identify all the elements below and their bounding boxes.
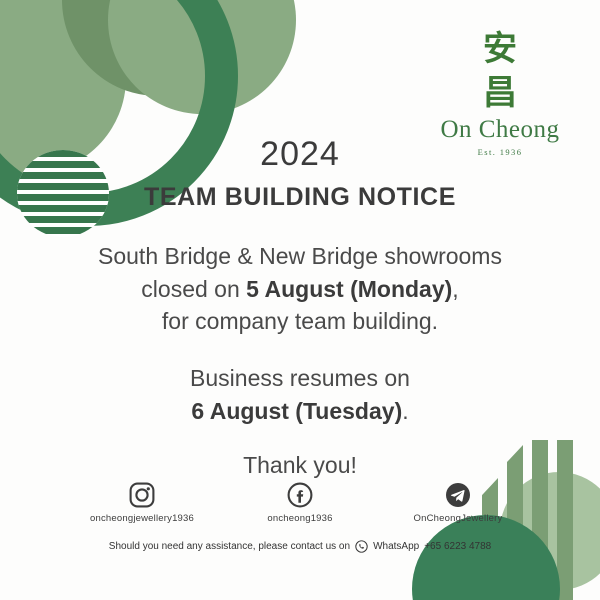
social-links-row: oncheongjewellery1936 oncheong1936 OnChe… (0, 482, 600, 524)
contact-line: Should you need any assistance, please c… (0, 540, 600, 553)
social-item-instagram[interactable]: oncheongjewellery1936 (82, 482, 202, 524)
headline-block: 2024 TEAM BUILDING NOTICE (0, 136, 600, 212)
copy-line-2-prefix: closed on (141, 276, 246, 302)
svg-text:安: 安 (483, 29, 517, 69)
chinese-seal-icon: 安 昌 (468, 24, 532, 112)
contact-prefix-text: Should you need any assistance, please c… (109, 541, 350, 552)
facebook-icon[interactable] (287, 482, 313, 508)
copy-line-2-suffix: , (452, 276, 458, 302)
copy-line-1: South Bridge & New Bridge showrooms (0, 240, 600, 273)
telegram-icon[interactable] (445, 482, 471, 508)
copy-line-3: for company team building. (0, 305, 600, 338)
instagram-icon[interactable] (129, 482, 155, 508)
contact-phone-number: +65 6223 4788 (424, 541, 491, 552)
social-item-telegram[interactable]: OnCheongJewellery (398, 482, 518, 524)
headline-year: 2024 (0, 136, 600, 173)
social-handle-telegram[interactable]: OnCheongJewellery (414, 513, 503, 524)
social-handle-instagram[interactable]: oncheongjewellery1936 (90, 513, 194, 524)
copy-paragraph-resume: Business resumes on 6 August (Tuesday). (0, 362, 600, 427)
page-title: TEAM BUILDING NOTICE (0, 183, 600, 212)
body-copy: South Bridge & New Bridge showrooms clos… (0, 240, 600, 482)
whatsapp-icon (355, 540, 368, 553)
svg-text:昌: 昌 (483, 73, 517, 112)
copy-line-4: Business resumes on (0, 362, 600, 395)
social-item-facebook[interactable]: oncheong1936 (240, 482, 360, 524)
social-handle-facebook[interactable]: oncheong1936 (267, 513, 332, 524)
closure-date: 5 August (Monday) (246, 276, 452, 302)
team-building-notice-poster: 安 昌 On Cheong Est. 1936 2024 TEAM BUILDI… (0, 0, 600, 600)
copy-thank-you: Thank you! (0, 449, 600, 482)
resume-date: 6 August (Tuesday) (191, 398, 402, 424)
contact-channel-label: WhatsApp (373, 541, 419, 552)
copy-line-2: closed on 5 August (Monday), (0, 273, 600, 306)
copy-line-5-suffix: . (402, 398, 408, 424)
copy-line-5: 6 August (Tuesday). (0, 395, 600, 428)
